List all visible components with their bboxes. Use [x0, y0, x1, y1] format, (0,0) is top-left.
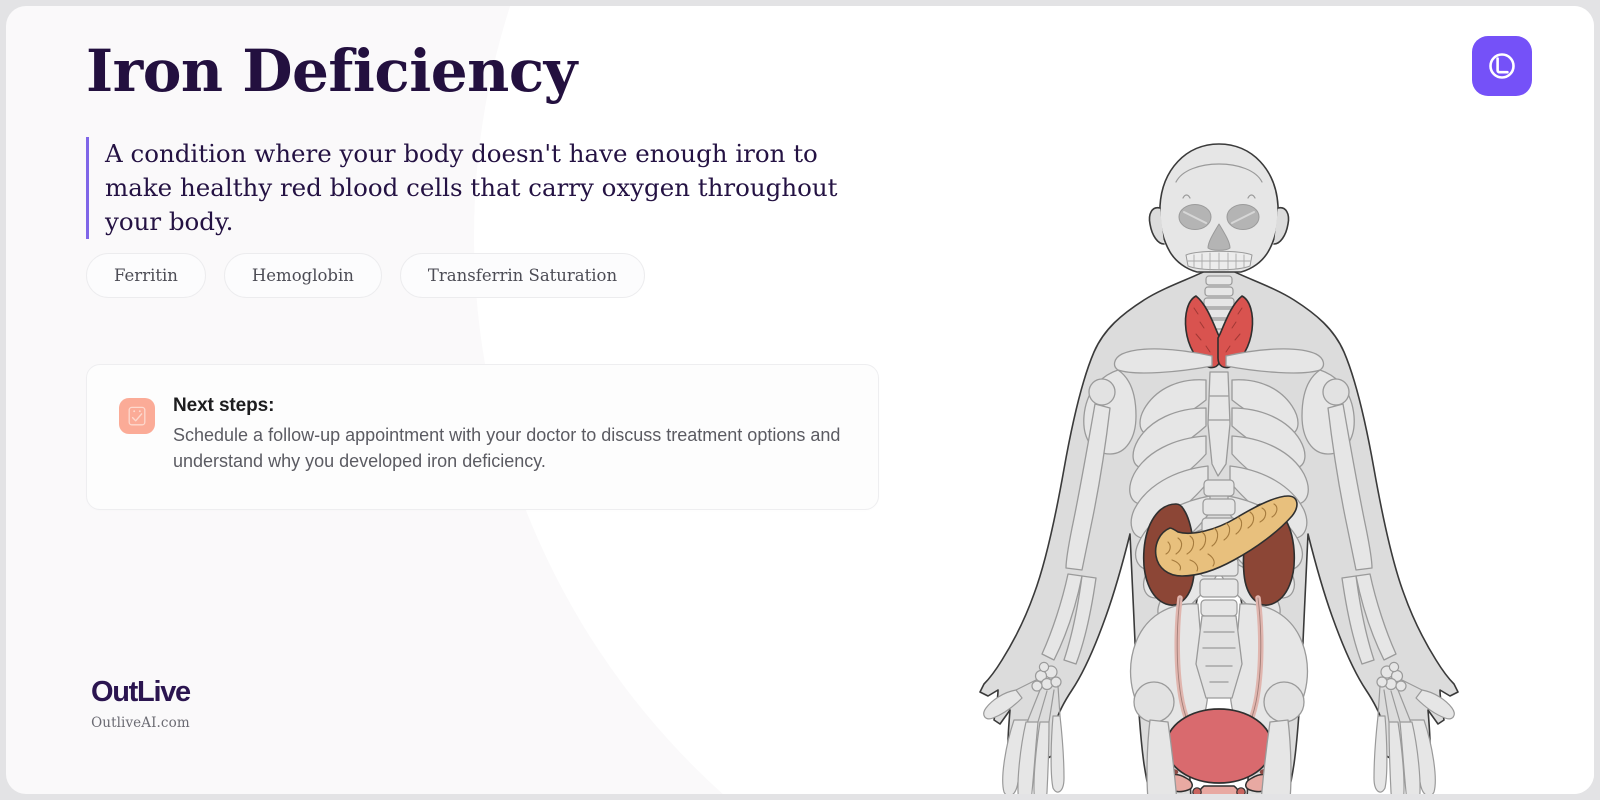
brand-badge[interactable] — [1472, 36, 1532, 96]
next-steps-card: Next steps: Schedule a follow-up appoint… — [86, 364, 879, 510]
subtitle-block: A condition where your body doesn't have… — [86, 137, 846, 239]
next-steps-text: Schedule a follow-up appointment with yo… — [173, 422, 844, 475]
next-steps-body: Next steps: Schedule a follow-up appoint… — [173, 395, 844, 475]
brand-logo-block[interactable]: OutLive OutliveAI.com — [91, 678, 190, 731]
anatomy-illustration — [954, 124, 1564, 794]
brand-url: OutliveAI.com — [91, 715, 190, 731]
skull — [1149, 144, 1288, 272]
page-subtitle: A condition where your body doesn't have… — [105, 137, 846, 239]
page-title: Iron Deficiency — [86, 38, 577, 105]
biomarker-chip-hemoglobin[interactable]: Hemoglobin — [224, 253, 382, 298]
biomarker-chip-transferrin-saturation[interactable]: Transferrin Saturation — [400, 253, 645, 298]
clipboard-check-icon — [127, 405, 147, 427]
poster-content: Iron Deficiency A condition where your b… — [6, 6, 1594, 794]
outlive-monogram-icon — [1486, 50, 1518, 82]
organ-bladder — [1166, 709, 1272, 783]
next-steps-heading: Next steps: — [173, 395, 844, 417]
brand-wordmark: OutLive — [91, 678, 190, 707]
poster-card: Iron Deficiency A condition where your b… — [6, 6, 1594, 794]
next-steps-icon-tile — [119, 398, 155, 434]
biomarker-chip-ferritin[interactable]: Ferritin — [86, 253, 206, 298]
biomarker-chip-list: Ferritin Hemoglobin Transferrin Saturati… — [86, 253, 645, 298]
anatomy-svg — [954, 124, 1564, 794]
